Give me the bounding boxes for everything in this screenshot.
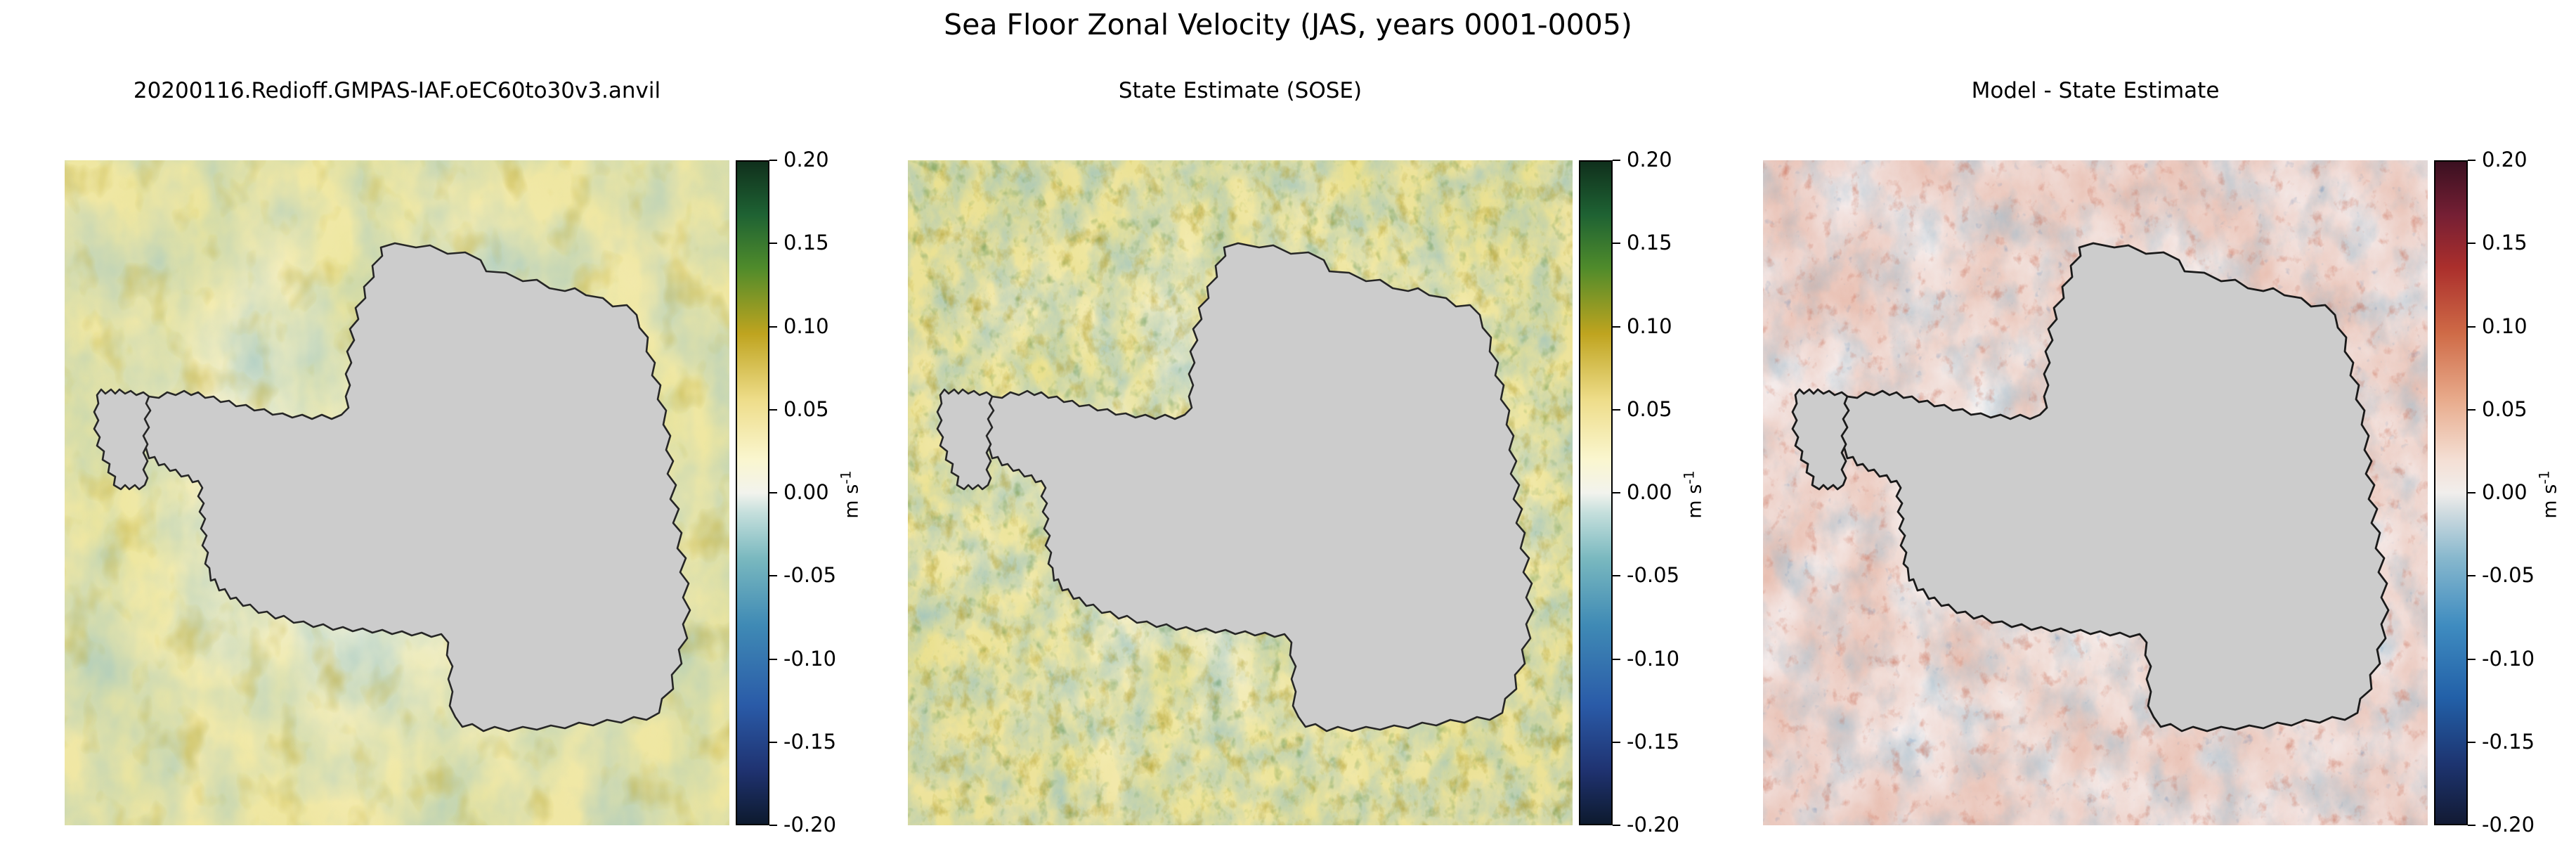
unit-meters: m — [2539, 500, 2561, 518]
panel-title-model: 20200116.Redioff.GMPAS-IAF.oEC60to30v3.a… — [0, 79, 794, 103]
tick-line — [769, 160, 777, 161]
unit-seconds: s — [2539, 484, 2561, 494]
tick-line — [1613, 326, 1620, 328]
colorbar-gradient-model — [737, 162, 768, 824]
panel-title-sose: State Estimate (SOSE) — [856, 79, 1625, 103]
tick-line — [2468, 742, 2476, 743]
tick-line — [1613, 659, 1620, 660]
tick-line — [769, 825, 777, 826]
tick-line — [1613, 160, 1620, 161]
colorbar-unit-label-sose: m s-1 — [1681, 470, 1706, 518]
tick-line — [2468, 825, 2476, 826]
unit-seconds: s — [841, 484, 863, 494]
unit-meters: m — [1684, 500, 1706, 518]
tick-line — [1613, 492, 1620, 493]
colorbar-gradient-difference — [2435, 162, 2466, 824]
figure-canvas: Sea Floor Zonal Velocity (JAS, years 000… — [0, 0, 2576, 852]
map-panel-sose — [908, 160, 1573, 825]
unit-exponent: -1 — [2537, 470, 2553, 484]
tick-line — [2468, 160, 2476, 161]
tick-line — [769, 326, 777, 328]
tick-line — [2468, 492, 2476, 493]
tick-line — [2468, 326, 2476, 328]
tick-line — [769, 659, 777, 660]
tick-line — [769, 742, 777, 743]
colorbar-gradient-sose — [1580, 162, 1611, 824]
tick-line — [769, 243, 777, 244]
antarctica-landmass-sose — [908, 160, 1573, 825]
tick-line — [2468, 409, 2476, 411]
unit-seconds: s — [1684, 484, 1706, 494]
colorbar-unit-label-difference: m s-1 — [2537, 470, 2561, 518]
tick-line — [769, 409, 777, 411]
colorbar-model — [736, 160, 769, 825]
tick-line — [1613, 742, 1620, 743]
panel-title-difference: Model - State Estimate — [1715, 79, 2476, 103]
unit-meters: m — [841, 500, 863, 518]
map-panel-model — [65, 160, 729, 825]
tick-line — [2468, 243, 2476, 244]
tick-line — [2468, 575, 2476, 576]
unit-exponent: -1 — [1681, 470, 1698, 484]
colorbar-difference — [2434, 160, 2468, 825]
map-panel-difference — [1763, 160, 2428, 825]
tick-line — [1613, 243, 1620, 244]
figure-title: Sea Floor Zonal Velocity (JAS, years 000… — [0, 0, 2576, 41]
antarctica-landmass-difference — [1763, 160, 2428, 825]
tick-line — [769, 575, 777, 576]
tick-line — [1613, 825, 1620, 826]
colorbar-unit-label-model: m s-1 — [838, 470, 863, 518]
tick-line — [2468, 659, 2476, 660]
tick-line — [1613, 409, 1620, 411]
tick-line — [1613, 575, 1620, 576]
tick-line — [769, 492, 777, 493]
unit-exponent: -1 — [838, 470, 854, 484]
colorbar-sose — [1579, 160, 1613, 825]
antarctica-landmass-model — [65, 160, 729, 825]
